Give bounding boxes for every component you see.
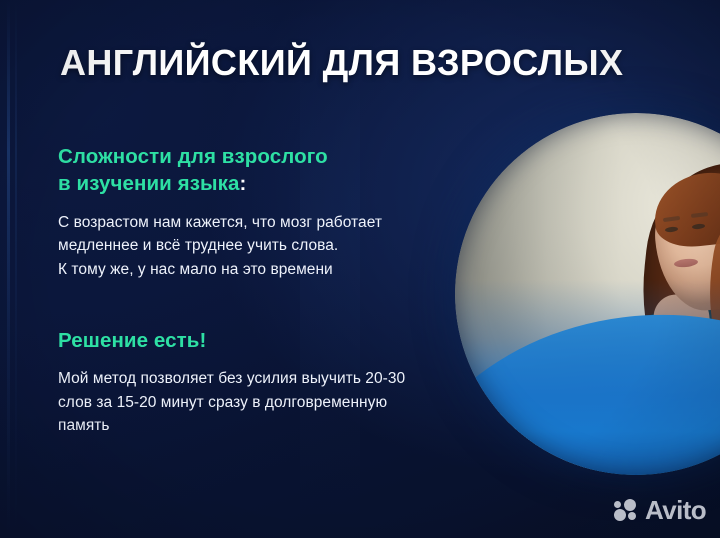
section-solution-body: Мой метод позволяет без усилия выучить 2… — [58, 367, 458, 438]
body-line-3: К тому же, у нас мало на это времени — [58, 261, 333, 278]
background-light-streak-secondary — [15, 0, 17, 538]
avito-dots-icon — [614, 499, 638, 521]
body-line-1: С возрастом нам кажется, что мозг работа… — [58, 214, 382, 231]
body-line-2: медленнее и всё труднее учить слова. — [58, 237, 338, 254]
avito-dot-bottom-right — [628, 512, 636, 520]
content-column: Сложности для взрослого в изучении языка… — [58, 143, 458, 438]
avito-dot-bottom-left — [614, 509, 626, 521]
section-difficulties-body: С возрастом нам кажется, что мозг работа… — [58, 211, 458, 282]
section-solution: Решение есть! Мой метод позволяет без ус… — [58, 327, 458, 438]
section-difficulties-heading: Сложности для взрослого в изучении языка… — [58, 143, 458, 198]
avito-dot-top-right — [624, 499, 636, 511]
body-line-3: память — [58, 417, 110, 434]
avito-dot-top-left — [614, 501, 621, 508]
section-solution-heading: Решение есть! — [58, 327, 458, 354]
promo-slide: АНГЛИЙСКИЙ ДЛЯ ВЗРОСЛЫХ Сложности для вз… — [0, 0, 720, 538]
body-line-2: слов за 15-20 минут сразу в долговременн… — [58, 394, 387, 411]
heading-exclamation: ! — [200, 329, 207, 352]
background-light-streak — [7, 0, 10, 538]
heading-line-2: в изучении языка — [58, 172, 240, 195]
body-line-1: Мой метод позволяет без усилия выучить 2… — [58, 370, 405, 387]
heading-line-1: Решение есть — [58, 329, 200, 352]
heading-line-1: Сложности для взрослого — [58, 145, 328, 168]
page-title: АНГЛИЙСКИЙ ДЛЯ ВЗРОСЛЫХ — [60, 44, 623, 82]
section-spacer — [58, 281, 458, 327]
section-difficulties: Сложности для взрослого в изучении языка… — [58, 143, 458, 281]
avito-wordmark: Avito — [645, 497, 706, 523]
portrait-photo — [455, 113, 720, 475]
portrait-photo-image — [455, 113, 720, 475]
avito-watermark: Avito — [614, 497, 706, 523]
heading-colon: : — [240, 172, 247, 195]
